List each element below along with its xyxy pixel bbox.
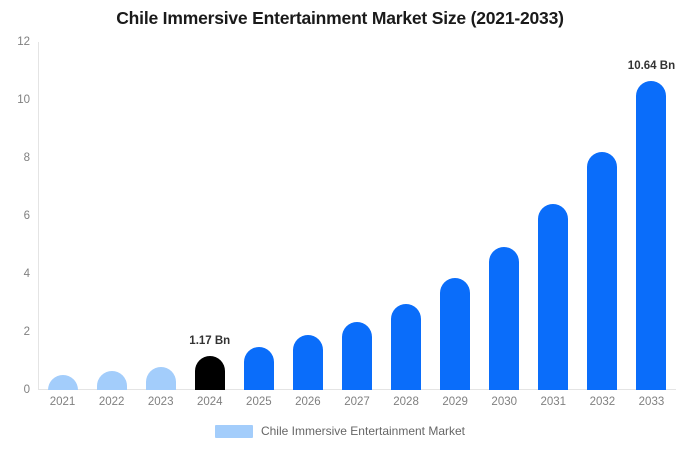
x-axis-tick-label: 2025 <box>236 396 282 408</box>
bar-group <box>89 42 135 390</box>
chart-title: Chile Immersive Entertainment Market Siz… <box>0 8 680 29</box>
bar-group: 10.64 Bn <box>628 42 674 390</box>
x-axis-tick-label: 2024 <box>187 396 233 408</box>
x-axis-tick-label: 2026 <box>285 396 331 408</box>
bar-group <box>383 42 429 390</box>
plot-area: 024681012 1.17 Bn10.64 Bn <box>38 42 676 390</box>
bar-group: 1.17 Bn <box>187 42 233 390</box>
bar-group <box>40 42 86 390</box>
x-axis-tick-label: 2028 <box>383 396 429 408</box>
bar-group <box>236 42 282 390</box>
x-axis-tick-label: 2033 <box>628 396 674 408</box>
x-axis-tick-label: 2022 <box>89 396 135 408</box>
x-axis-tick-label: 2031 <box>530 396 576 408</box>
y-axis-tick-label: 8 <box>0 152 30 164</box>
bar-group <box>138 42 184 390</box>
bar-value-label: 1.17 Bn <box>189 335 230 347</box>
bar-group <box>334 42 380 390</box>
bar-group <box>285 42 331 390</box>
bar[interactable] <box>97 371 127 390</box>
bar[interactable] <box>440 278 470 390</box>
chart-container: Chile Immersive Entertainment Market Siz… <box>0 0 680 450</box>
bar-group <box>432 42 478 390</box>
bar[interactable] <box>195 356 225 390</box>
bar-group <box>481 42 527 390</box>
y-axis-tick-label: 2 <box>0 326 30 338</box>
y-axis-tick-label: 0 <box>0 384 30 396</box>
x-axis-tick-label: 2023 <box>138 396 184 408</box>
bar[interactable] <box>244 347 274 390</box>
bar[interactable] <box>538 204 568 390</box>
x-axis-tick-label: 2027 <box>334 396 380 408</box>
x-axis-tick-label: 2032 <box>579 396 625 408</box>
legend-swatch-icon <box>215 425 253 438</box>
y-axis-tick-label: 10 <box>0 94 30 106</box>
bar-value-label: 10.64 Bn <box>628 60 675 72</box>
bar[interactable] <box>391 304 421 390</box>
x-axis-tick-label: 2030 <box>481 396 527 408</box>
bar[interactable] <box>146 367 176 390</box>
bar[interactable] <box>489 247 519 390</box>
y-axis-tick-label: 4 <box>0 268 30 280</box>
bar[interactable] <box>48 375 78 390</box>
bar-group <box>530 42 576 390</box>
chart-legend: Chile Immersive Entertainment Market <box>0 424 680 438</box>
bar[interactable] <box>293 335 323 390</box>
bar-group <box>579 42 625 390</box>
y-axis-tick-label: 12 <box>0 36 30 48</box>
legend-label: Chile Immersive Entertainment Market <box>261 424 465 438</box>
y-axis-tick-label: 6 <box>0 210 30 222</box>
bar[interactable] <box>342 322 372 390</box>
bar[interactable] <box>636 81 666 390</box>
x-axis-tick-label: 2021 <box>40 396 86 408</box>
bar[interactable] <box>587 152 617 390</box>
x-axis-tick-label: 2029 <box>432 396 478 408</box>
